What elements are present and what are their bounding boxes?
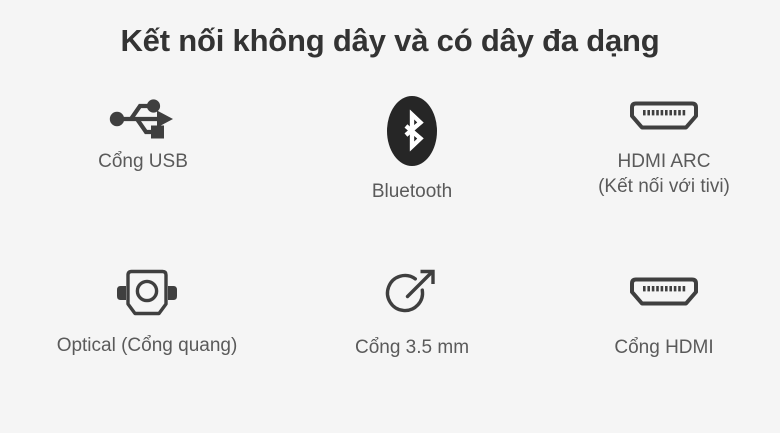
feature-label-hdmi: Cổng HDMI	[534, 336, 780, 361]
feature-label-text: Optical (Cổng quang)	[57, 335, 238, 356]
feature-sublabel-text: (Kết nối với tivi)	[534, 175, 780, 200]
hdmi-port-icon	[534, 88, 780, 146]
feature-label-optical: Optical (Cổng quang)	[2, 334, 292, 359]
feature-label-text: HDMI ARC	[618, 151, 711, 172]
usb-icon	[13, 88, 273, 148]
feature-item-optical: Optical (Cổng quang)	[2, 258, 292, 359]
feature-item-bluetooth: Bluetooth	[282, 88, 542, 205]
feature-item-jack-3-5: Cổng 3.5 mm	[282, 258, 542, 361]
feature-label-text: Cổng 3.5 mm	[355, 337, 469, 358]
feature-label-jack-3-5: Cổng 3.5 mm	[282, 336, 542, 361]
feature-label-text: Cổng HDMI	[614, 337, 713, 358]
feature-item-usb: Cổng USB	[13, 88, 273, 175]
connectivity-infographic: Kết nối không dây và có dây đa dạng	[0, 0, 780, 433]
feature-label-text: Cổng USB	[98, 151, 188, 172]
feature-label-text: Bluetooth	[372, 181, 452, 202]
feature-item-hdmi: Cổng HDMI	[534, 258, 780, 361]
feature-label-bluetooth: Bluetooth	[282, 180, 542, 205]
hdmi-port-icon	[534, 258, 780, 328]
feature-label-usb: Cổng USB	[13, 150, 273, 175]
feature-item-hdmi-arc: HDMI ARC (Kết nối với tivi)	[534, 88, 780, 199]
audio-jack-icon	[282, 258, 542, 328]
feature-label-hdmi-arc: HDMI ARC (Kết nối với tivi)	[534, 150, 780, 199]
optical-port-icon	[2, 258, 292, 328]
page-title: Kết nối không dây và có dây đa dạng	[0, 22, 780, 61]
feature-grid: Cổng USB Bluetooth	[0, 88, 780, 408]
bluetooth-icon	[282, 88, 542, 174]
